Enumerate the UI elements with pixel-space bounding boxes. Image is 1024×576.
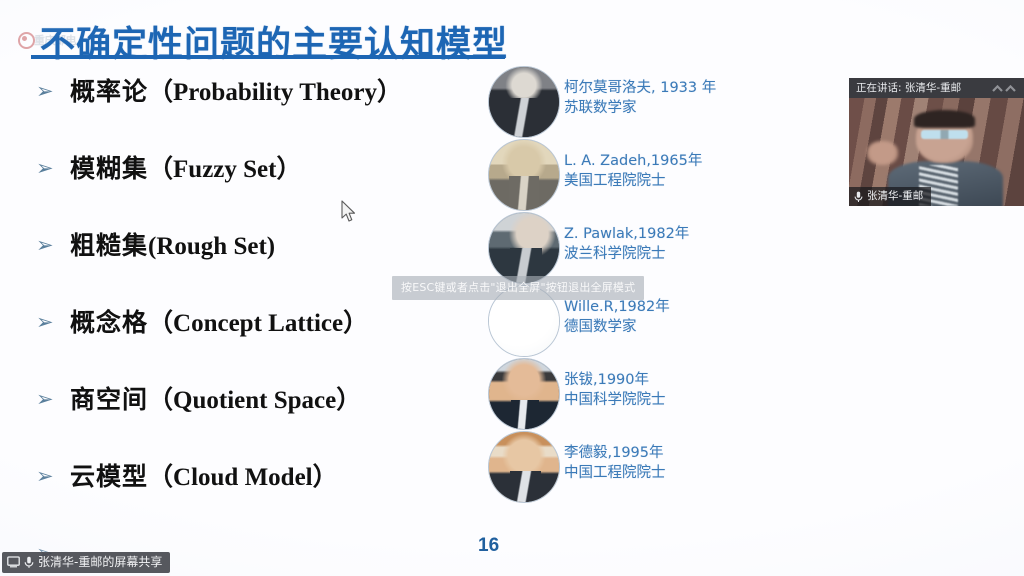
person-photo — [488, 139, 560, 211]
person-caption-line2: 波兰科学院院士 — [564, 244, 689, 264]
person-caption: Z. Pawlak,1982年 波兰科学院院士 — [564, 224, 689, 264]
bullet-marker-icon: ➢ — [34, 72, 70, 112]
bullet-label-cn: 概率论 — [70, 77, 148, 106]
screen-share-status-label: 张清华-重邮的屏幕共享 — [38, 554, 162, 570]
bullet-label-en: （Quotient Space） — [148, 387, 361, 414]
watermark-dot-icon — [22, 36, 27, 41]
person-photo — [488, 66, 560, 138]
person-entry-pawlak: Z. Pawlak,1982年 波兰科学院院士 — [488, 212, 758, 285]
active-speaker-label: 正在讲话: 张清华-重邮 — [856, 82, 961, 94]
person-entry-zadeh: L. A. Zadeh,1965年 美国工程院院士 — [488, 139, 758, 212]
person-caption-line2: 德国数学家 — [564, 317, 670, 337]
bullet-label-en: （Concept Lattice） — [148, 310, 368, 337]
person-caption-line1: Wille.R,1982年 — [564, 299, 670, 315]
bullet-label-cn: 粗糙集 — [70, 231, 148, 260]
microphone-icon — [854, 191, 863, 203]
person-caption: 李德毅,1995年 中国工程院院士 — [564, 443, 666, 483]
person-photo — [488, 358, 560, 430]
person-entry-lideyi: 李德毅,1995年 中国工程院院士 — [488, 431, 758, 504]
video-name-badge: 张清华-重邮 — [849, 187, 931, 206]
title-underline-rule — [31, 55, 505, 59]
person-caption-line2: 苏联数学家 — [564, 98, 716, 118]
person-caption: 张钹,1990年 中国科学院院士 — [564, 370, 666, 410]
person-photo — [488, 212, 560, 284]
video-subject-hair — [914, 110, 975, 128]
bullet-label-cn: 商空间 — [70, 385, 148, 414]
person-caption: L. A. Zadeh,1965年 美国工程院院士 — [564, 151, 702, 191]
slide-page-number: 16 — [478, 535, 499, 557]
bullet-list: ➢ 概率论（Probability Theory） ➢ 模糊集（Fuzzy Se… — [34, 72, 464, 576]
slide-title: 不确定性问题的主要认知模型 — [40, 16, 508, 67]
bullet-item-probability-theory: ➢ 概率论（Probability Theory） — [34, 72, 464, 149]
bullet-label-cn: 云模型 — [70, 462, 148, 491]
bullet-label-en: (Rough Set) — [148, 233, 275, 260]
person-caption-line1: 张钹,1990年 — [564, 372, 649, 388]
screen-share-icon — [7, 556, 20, 568]
participant-video-tile[interactable]: 正在讲话: 张清华-重邮 张清华-重邮 — [849, 78, 1024, 206]
person-caption-line2: 美国工程院院士 — [564, 171, 702, 191]
bullet-label-en: （Fuzzy Set） — [148, 156, 301, 183]
person-caption-line2: 中国工程院院士 — [564, 463, 666, 483]
microphone-icon — [24, 556, 34, 569]
bullet-item-quotient-space: ➢ 商空间（Quotient Space） — [34, 380, 464, 457]
watermark-ring-icon — [18, 32, 35, 49]
screen-share-status-bar[interactable]: 张清华-重邮的屏幕共享 — [2, 552, 170, 573]
person-entry-zhangbo: 张钹,1990年 中国科学院院士 — [488, 358, 758, 431]
video-subject-glasses — [921, 130, 968, 139]
video-tile-header[interactable]: 正在讲话: 张清华-重邮 — [849, 78, 1024, 98]
video-feed[interactable]: 张清华-重邮 — [849, 98, 1024, 206]
bullet-marker-icon: ➢ — [34, 149, 70, 189]
person-photo — [488, 431, 560, 503]
person-caption-line1: L. A. Zadeh,1965年 — [564, 153, 702, 169]
person-caption-line2: 中国科学院院士 — [564, 390, 666, 410]
person-caption-line1: 李德毅,1995年 — [564, 445, 664, 461]
bullet-item-cloud-model: ➢ 云模型（Cloud Model） — [34, 457, 464, 534]
bullet-label-en: （Cloud Model） — [148, 464, 338, 491]
bullet-marker-icon: ➢ — [34, 380, 70, 420]
bullet-label-cn: 模糊集 — [70, 154, 148, 183]
video-subject-hand — [867, 141, 899, 165]
chevron-collapse-icon[interactable] — [992, 78, 1016, 98]
person-caption-line1: Z. Pawlak,1982年 — [564, 226, 689, 242]
bullet-label-cn: 概念格 — [70, 308, 148, 337]
bullet-marker-icon: ➢ — [34, 457, 70, 497]
video-participant-name: 张清华-重邮 — [867, 190, 923, 203]
bullet-item-concept-lattice: ➢ 概念格（Concept Lattice） — [34, 303, 464, 380]
bullet-marker-icon: ➢ — [34, 303, 70, 343]
exit-fullscreen-hint-toast: 按ESC键或者点击"退出全屏"按钮退出全屏模式 — [392, 276, 644, 300]
person-entry-kolmogorov: 柯尔莫哥洛夫, 1933 年 苏联数学家 — [488, 66, 758, 139]
person-caption: Wille.R,1982年 德国数学家 — [564, 297, 670, 337]
bullet-label-en: （Probability Theory） — [148, 79, 402, 106]
bullet-marker-icon: ➢ — [34, 226, 70, 266]
person-caption-line1: 柯尔莫哥洛夫, 1933 年 — [564, 80, 716, 96]
person-caption: 柯尔莫哥洛夫, 1933 年 苏联数学家 — [564, 78, 716, 118]
bullet-item-fuzzy-set: ➢ 模糊集（Fuzzy Set） — [34, 149, 464, 226]
